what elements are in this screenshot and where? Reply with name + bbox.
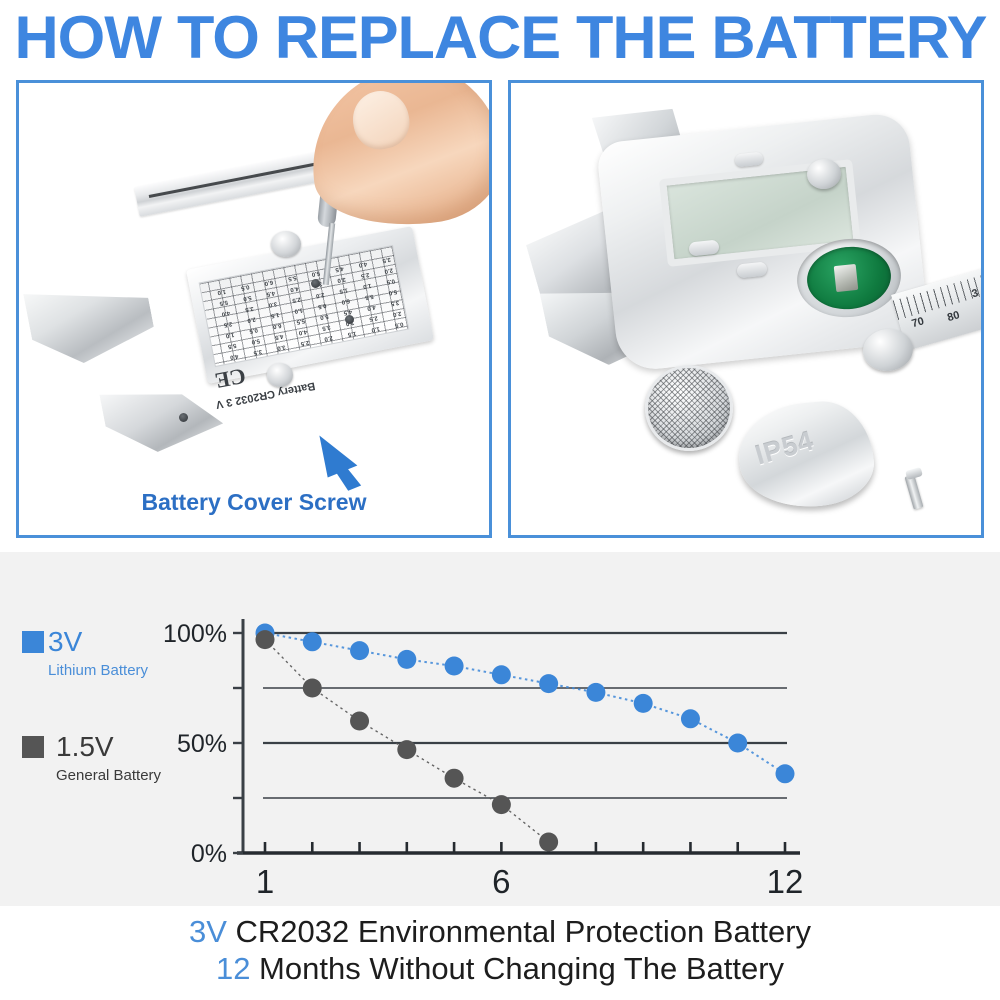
caliper-pin-hole: [311, 279, 320, 288]
cover-screw-head: [905, 467, 923, 480]
data-point-0-11: [728, 734, 747, 753]
data-point-0-10: [681, 709, 700, 728]
data-point-1-2: [303, 679, 322, 698]
data-point-0-7: [539, 674, 558, 693]
data-point-0-2: [303, 632, 322, 651]
caption-2-highlight: 12: [216, 951, 250, 986]
x-tick-label-6: 6: [492, 863, 510, 900]
y-tick-label-0: 0%: [191, 840, 227, 868]
data-point-1-4: [397, 740, 416, 759]
caliper-open-battery-photo: 70 80 3 4 IP54: [511, 83, 981, 535]
ce-mark-text: CE: [213, 362, 248, 393]
x-tick-label-12: 12: [767, 863, 804, 900]
y-tick-label-100: 100%: [163, 620, 227, 648]
battery-discharge-line-chart: 0%50%100%1612: [0, 552, 1000, 906]
bottom-caption: 3V CR2032 Environmental Protection Batte…: [0, 906, 1000, 1000]
data-point-0-8: [586, 683, 605, 702]
up-left-arrow-icon: [319, 413, 389, 491]
data-point-0-6: [492, 665, 511, 684]
y-tick-label-50: 50%: [177, 730, 227, 758]
data-point-0-5: [445, 657, 464, 676]
data-point-0-9: [634, 694, 653, 713]
battery-cover-screw-hole: [345, 315, 354, 324]
data-point-1-3: [350, 712, 369, 731]
x-tick-label-1: 1: [256, 863, 274, 900]
caliper-rivet-hole: [179, 413, 188, 422]
chart-plot-area: 0%50%100%1612: [0, 552, 1000, 906]
caliper-lock-screw-top: [271, 231, 301, 257]
cover-screw: [905, 474, 924, 509]
data-point-0-12: [776, 764, 795, 783]
data-point-1-1: [256, 630, 275, 649]
ruler-number-70: 70: [910, 315, 925, 330]
photo-panels: 0.51.01.52.02.53.03.54.02.02.53.03.54.04…: [0, 76, 1000, 546]
data-point-1-6: [492, 795, 511, 814]
caliper-screwdriver-photo: 0.51.01.52.02.53.03.54.02.02.53.03.54.04…: [19, 83, 489, 535]
battery-life-chart-section: 3V Lithium Battery 1.5V General Battery …: [0, 552, 1000, 906]
caliper-lock-screw-bottom: [267, 363, 293, 387]
page-title: HOW TO REPLACE THE BATTERY: [14, 8, 986, 68]
data-point-0-3: [350, 641, 369, 660]
caption-1-highlight: 3V: [189, 914, 227, 949]
data-point-1-5: [445, 769, 464, 788]
cr2032-battery: [645, 365, 733, 451]
data-point-0-4: [397, 650, 416, 669]
series-line-0: [265, 633, 785, 774]
photo-panel-right: 70 80 3 4 IP54: [508, 80, 984, 538]
battery-cover-screw-label: Battery Cover Screw: [19, 489, 489, 516]
ruler-number-80: 80: [946, 309, 961, 324]
battery-contact-chip: [834, 264, 859, 292]
caption-line-2: 12 Months Without Changing The Battery: [0, 951, 1000, 988]
data-point-1-7: [539, 833, 558, 852]
caliper-lower-jaw: [99, 373, 226, 464]
caption-line-1: 3V CR2032 Environmental Protection Batte…: [0, 914, 1000, 951]
caption-1-rest: CR2032 Environmental Protection Battery: [227, 914, 811, 949]
page-header: HOW TO REPLACE THE BATTERY: [0, 0, 1000, 76]
caption-2-rest: Months Without Changing The Battery: [250, 951, 784, 986]
caliper-upper-jaw: [22, 264, 158, 372]
photo-panel-left: 0.51.01.52.02.53.03.54.02.02.53.03.54.04…: [16, 80, 492, 538]
